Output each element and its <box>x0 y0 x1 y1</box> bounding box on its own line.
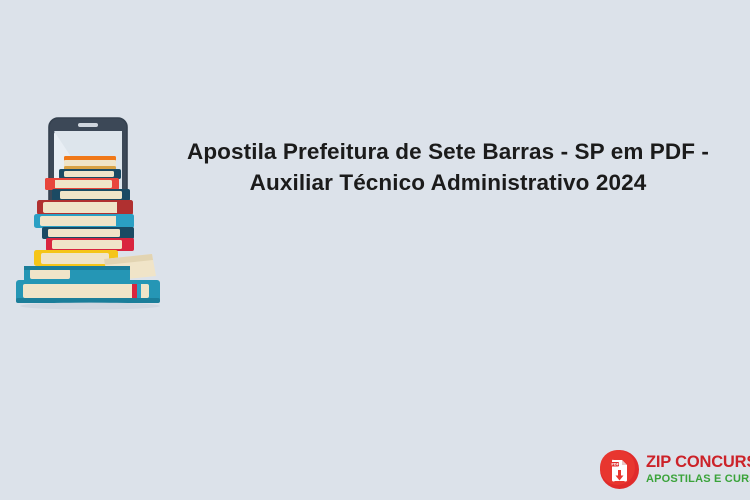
page-title: Apostila Prefeitura de Sete Barras - SP … <box>168 136 728 198</box>
svg-text:PDF: PDF <box>611 463 619 467</box>
book-orange-top <box>64 156 116 170</box>
title-line-1: Apostila Prefeitura de Sete Barras - SP … <box>168 136 728 167</box>
book-darkred-1 <box>37 200 133 215</box>
book-navy-2 <box>52 189 130 201</box>
book-teal-1 <box>24 266 130 282</box>
books-stack-illustration <box>12 114 166 310</box>
brand-logo[interactable]: PDF ZIP CONCURSOS APOSTILAS E CURSOS <box>600 450 750 489</box>
book-crimson-1 <box>46 238 134 251</box>
title-line-2: Auxiliar Técnico Administrativo 2024 <box>168 167 728 198</box>
book-base <box>16 280 160 303</box>
book-red-1 <box>45 178 119 190</box>
brand-text-block: ZIP CONCURSOS APOSTILAS E CURSOS <box>646 454 750 485</box>
page-canvas: Apostila Prefeitura de Sete Barras - SP … <box>0 0 750 500</box>
book-navy-1 <box>59 169 121 179</box>
pdf-download-icon: PDF <box>600 450 639 489</box>
book-navy-3 <box>42 227 134 239</box>
book-blue-1 <box>34 214 134 228</box>
brand-name: ZIP CONCURSOS <box>646 454 750 471</box>
brand-tagline: APOSTILAS E CURSOS <box>646 474 750 485</box>
